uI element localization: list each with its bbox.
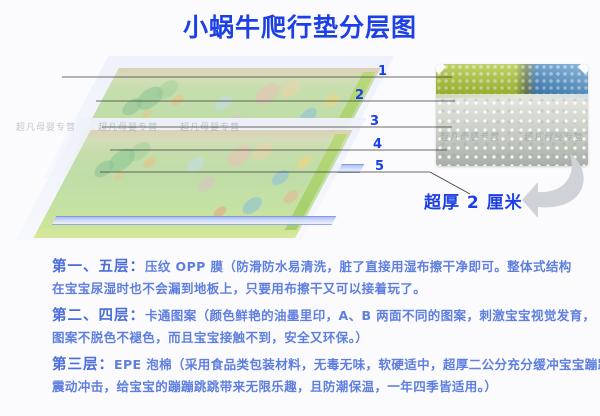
- paragraph-lead: 第三层：: [52, 357, 114, 373]
- paragraph-line: 震动冲击，给宝宝的蹦蹦跳跳带来无限乐趣，且防潮保温，一年四季皆适用。）: [52, 376, 600, 397]
- page-title: 小蜗牛爬行垫分层图: [0, 8, 600, 44]
- paragraph-line: 图案不脱色不褪色，而且宝宝接触不到，安全又环保。）: [52, 327, 600, 348]
- layer-number-5: 5: [375, 159, 384, 174]
- watermark: 超凡母婴专营: [16, 120, 76, 133]
- watermark: 超凡母婴专营: [440, 130, 500, 143]
- layer-number-2: 2: [355, 88, 364, 103]
- cross-section-block: [436, 64, 588, 166]
- paragraph-text: 压纹 OPP 膜（防滑防水易清洗，脏了直接用湿布擦干净即可。整体式结构: [145, 259, 572, 274]
- paragraph-layer-2-4: 第二、四层：卡通图案（颜色鲜艳的油墨里印，A、B 两面不同的图案，刺激宝宝视觉发…: [52, 305, 600, 348]
- paragraph-line: 在宝宝尿湿时也不会漏到地板上，只要用布擦干又可以接着玩了。: [52, 278, 600, 299]
- infographic-page: 小蜗牛爬行垫分层图 超凡母婴专营 超凡母婴专营 超凡母婴专营 超凡母婴专营 超凡…: [0, 0, 600, 416]
- watermark: 超凡母婴专营: [98, 120, 158, 133]
- paragraph-layer-3: 第三层：EPE 泡棉（采用食品类包装材料，无毒无味，软硬适中，超厚二公分充分缓冲…: [52, 354, 600, 397]
- paragraph-text: 卡通图案（颜色鲜艳的油墨里印，A、B 两面不同的图案，刺激宝宝视觉发育，: [145, 308, 595, 323]
- paragraph-line: 第二、四层：卡通图案（颜色鲜艳的油墨里印，A、B 两面不同的图案，刺激宝宝视觉发…: [52, 305, 600, 327]
- description-block: 第一、五层：压纹 OPP 膜（防滑防水易清洗，脏了直接用湿布擦干净即可。整体式结…: [52, 256, 600, 403]
- layer-number-4: 4: [373, 137, 382, 152]
- exploded-layer-stack: 超凡母婴专营 超凡母婴专营 超凡母婴专营: [18, 52, 348, 247]
- paragraph-lead: 第二、四层：: [52, 308, 145, 324]
- paragraph-layer-1-5: 第一、五层：压纹 OPP 膜（防滑防水易清洗，脏了直接用湿布擦干净即可。整体式结…: [52, 256, 600, 299]
- paragraph-lead: 第一、五层：: [52, 259, 145, 275]
- paragraph-text: EPE 泡棉（采用食品类包装材料，无毒无味，软硬适中，超厚二公分充分缓冲宝宝蹦跳…: [114, 357, 600, 372]
- layer-number-1: 1: [378, 64, 387, 79]
- watermark: 超凡母婴专营: [180, 120, 240, 133]
- mat-film-lower: [52, 216, 337, 225]
- paragraph-line: 第一、五层：压纹 OPP 膜（防滑防水易清洗，脏了直接用湿布擦干净即可。整体式结…: [52, 256, 600, 278]
- cross-section-top-sheen: [436, 64, 588, 94]
- watermark: 超凡母婴专营: [524, 130, 584, 143]
- layer-number-3: 3: [370, 114, 379, 129]
- curved-arrow-icon: [512, 152, 598, 224]
- thickness-callout: 超厚 2 厘米: [424, 188, 523, 213]
- paragraph-line: 第三层：EPE 泡棉（采用食品类包装材料，无毒无味，软硬适中，超厚二公分充分缓冲…: [52, 354, 600, 376]
